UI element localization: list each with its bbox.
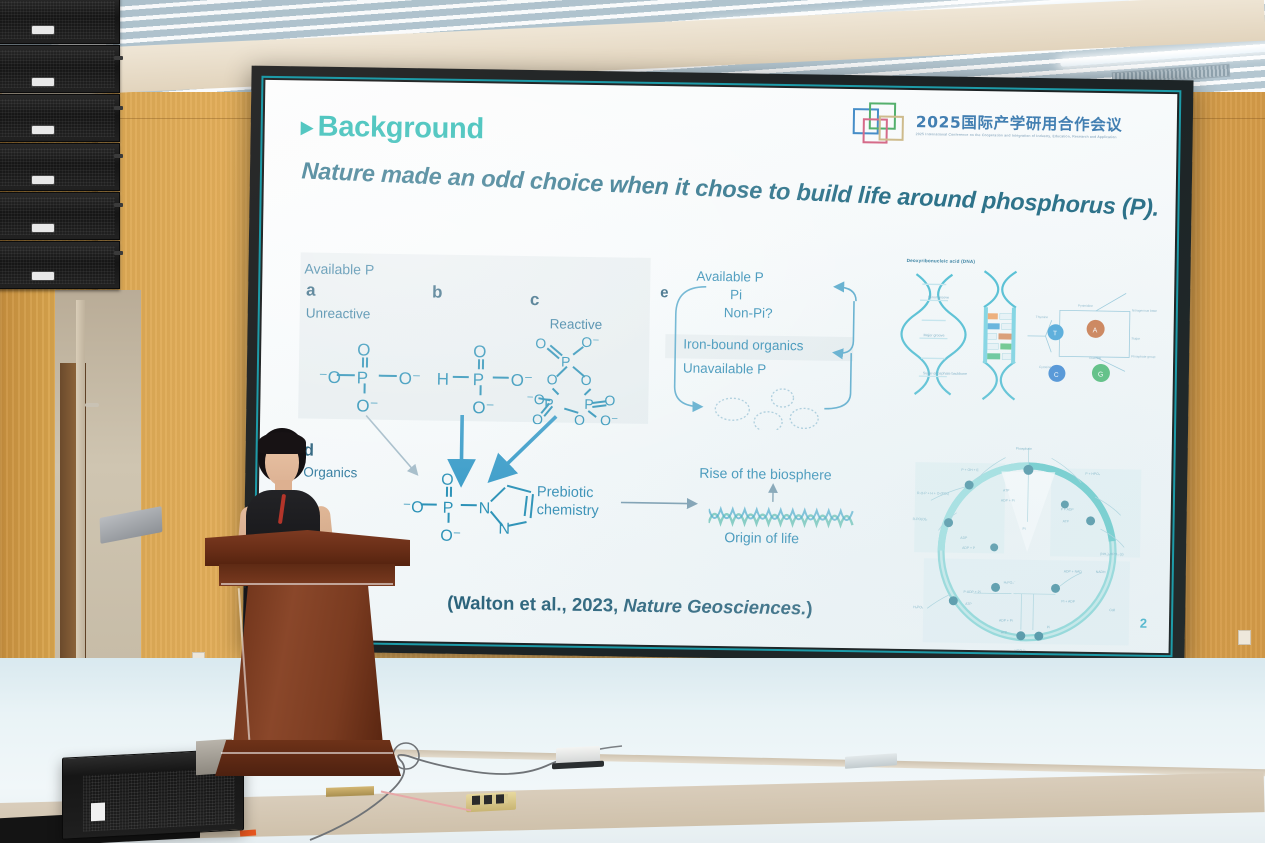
svg-text:N: N: [498, 521, 510, 538]
svg-text:ADP + Pi: ADP + Pi: [999, 618, 1013, 622]
svg-text:P: P: [473, 370, 485, 389]
svg-text:Thymine: Thymine: [1036, 315, 1049, 319]
rigging-bracket: [114, 251, 123, 255]
svg-text:O: O: [547, 371, 558, 387]
svg-text:⁻O: ⁻O: [526, 391, 545, 407]
svg-text:ATP: ATP: [1063, 519, 1070, 523]
svg-text:H₂PO₄⁻: H₂PO₄⁻: [1004, 581, 1016, 585]
line-array-loudspeaker: [0, 0, 122, 296]
line-array-box: [0, 192, 120, 240]
svg-text:ATP: ATP: [1003, 488, 1010, 492]
svg-text:Phosphate: Phosphate: [1016, 447, 1032, 451]
floor-power-strip-sockets: [472, 794, 508, 805]
slide-citation: (Walton et al., 2023, Nature Geosciences…: [447, 592, 813, 620]
line-array-box: [0, 143, 120, 191]
trimetaphosphate-structure-c: OO⁻ P OO ⁻O P P O O O O⁻: [518, 332, 647, 426]
biosphere-arrow: [767, 482, 779, 504]
citation-prefix: (Walton et al., 2023,: [447, 592, 623, 616]
lectern-base: [215, 740, 401, 776]
slide-heading-text: Background: [317, 111, 484, 147]
lectern-stripe-upper: [221, 583, 393, 585]
dna-base-G: G: [1098, 371, 1104, 378]
line-array-badge: [32, 78, 54, 86]
svg-text:Pi + ADP: Pi + ADP: [1061, 599, 1075, 603]
dna-strand-graphic: [708, 503, 860, 531]
available-p-label-left: Available P: [304, 260, 374, 277]
panel-a-caption: Unreactive: [306, 306, 371, 322]
e-cycle-arrows: [664, 278, 866, 431]
slide-number: 2: [1140, 616, 1147, 631]
logo-squares-icon: [852, 102, 909, 147]
floor-tape-marker-3: [240, 829, 256, 836]
floor-brass-plate: [326, 786, 374, 797]
svg-text:P: P: [357, 368, 369, 387]
svg-text:H₂PO₄: H₂PO₄: [913, 605, 924, 609]
svg-text:O: O: [535, 335, 546, 351]
prebiotic-arrow: [621, 493, 707, 512]
slide-title: Nature made an odd choice when it chose …: [301, 156, 1177, 223]
line-array-badge: [32, 224, 54, 232]
svg-text:O⁻: O⁻: [440, 528, 461, 545]
svg-text:R-O-P + H + O-(PO₃): R-O-P + H + O-(PO₃): [917, 491, 949, 496]
panel-c-letter: c: [530, 290, 540, 310]
lectern-top: [205, 530, 410, 566]
rigging-bracket: [114, 203, 123, 207]
line-array-box: [0, 94, 120, 142]
svg-text:Pi: Pi: [1047, 625, 1050, 629]
svg-text:Major groove: Major groove: [923, 333, 944, 337]
svg-text:R-PO(O)₂: R-PO(O)₂: [913, 517, 928, 521]
svg-text:O: O: [473, 342, 487, 361]
bullet-arrow-icon: [301, 121, 314, 135]
svg-text:P: P: [561, 354, 571, 370]
prebiotic-chemistry-line2: chemistry: [537, 502, 599, 519]
wooden-lectern: [205, 530, 410, 780]
svg-text:ADP: ADP: [960, 536, 968, 540]
svg-text:P: P: [544, 395, 554, 411]
slide-heading: Background: [300, 110, 484, 146]
auditorium-scene: Background Nature made an odd choice whe…: [0, 0, 1265, 843]
svg-text:H: H: [437, 370, 450, 389]
panel-b-letter: b: [432, 283, 443, 303]
svg-text:Guanine: Guanine: [1089, 356, 1101, 360]
svg-text:P: P: [584, 396, 594, 412]
rigging-bracket: [114, 106, 123, 110]
svg-text:ADP + NAD: ADP + NAD: [1064, 569, 1083, 573]
line-array-badge: [32, 26, 54, 34]
rigging-bracket: [114, 154, 123, 158]
dna-base-C: C: [1054, 372, 1059, 379]
svg-text:Cell: Cell: [1109, 608, 1115, 612]
line-array-badge: [32, 126, 54, 134]
phosphorus-cycle-svg: Phosphate P + OH + E R-O-P + H + O-(PO₃)…: [902, 442, 1151, 653]
dna-base-T: T: [1053, 330, 1057, 337]
dna-figure-svg: Minor groove Major groove Sugar-phosphat…: [898, 258, 1158, 412]
svg-text:ATP: ATP: [1001, 630, 1008, 634]
svg-text:Pyrimidine: Pyrimidine: [1078, 304, 1093, 308]
svg-text:Sugar: Sugar: [1131, 336, 1141, 340]
svg-text:O⁻: O⁻: [581, 334, 600, 350]
conference-name-cn: 2025国际产学研用合作会议: [916, 114, 1123, 134]
svg-text:⁻O: ⁻O: [319, 368, 341, 387]
wall-outlet-right[interactable]: [1238, 630, 1251, 645]
svg-text:O: O: [357, 340, 371, 359]
svg-text:NADH: NADH: [1096, 570, 1106, 574]
svg-text:Cytosine: Cytosine: [1039, 365, 1052, 369]
line-array-box: [0, 45, 120, 93]
dna-figure-caption: Deoxyribonucleic acid (DNA): [907, 258, 976, 264]
rigging-bracket: [114, 56, 123, 60]
panel-a-letter: a: [306, 281, 316, 301]
citation-journal: Nature Geosciences.: [623, 595, 806, 619]
svg-text:O⁻: O⁻: [600, 412, 619, 426]
svg-text:HPO₄²⁻: HPO₄²⁻: [1015, 649, 1027, 653]
lectern-stripe-base: [221, 752, 393, 754]
line-array-badge: [32, 176, 54, 184]
svg-text:ADP + P: ADP + P: [962, 546, 976, 550]
svg-text:ADP + Pi: ADP + Pi: [1001, 498, 1015, 502]
line-array-box: [0, 0, 120, 44]
citation-suffix: ): [806, 597, 813, 618]
svg-text:P + HPO₄: P + HPO₄: [1085, 472, 1100, 476]
svg-text:Phosphate group: Phosphate group: [1131, 354, 1156, 358]
dna-base-A: A: [1093, 327, 1098, 334]
svg-text:Nitrogenous base: Nitrogenous base: [1132, 308, 1157, 312]
line-array-badge: [32, 272, 54, 280]
prebiotic-chemistry-line1: Prebiotic: [537, 484, 594, 501]
dna-figure: Deoxyribonucleic acid (DNA): [898, 258, 1158, 412]
svg-text:Minor groove: Minor groove: [928, 295, 949, 299]
svg-text:(NH₄)₂HPO₄ (s): (NH₄)₂HPO₄ (s): [1100, 552, 1124, 556]
rise-of-biosphere-label: Rise of the biosphere: [699, 465, 832, 483]
lectern-body: [233, 585, 383, 745]
phosphorus-cycle-figure: Phosphate P + OH + E R-O-P + H + O-(PO₃)…: [902, 442, 1151, 653]
svg-text:P + OH + E: P + OH + E: [961, 468, 979, 472]
presenter-hair-front: [258, 432, 306, 454]
svg-text:O: O: [604, 392, 615, 408]
door-handle-icon[interactable]: [85, 403, 99, 407]
svg-text:P-ADP + Pi: P-ADP + Pi: [963, 590, 980, 594]
svg-text:ATP: ATP: [965, 602, 972, 606]
line-array-box: [0, 241, 120, 289]
speaker-badge: [91, 803, 105, 822]
svg-text:Sugar-phosphate backbone: Sugar-phosphate backbone: [923, 371, 967, 376]
panel-c-caption: Reactive: [550, 316, 603, 332]
conference-logo: 2025国际产学研用合作会议 2025 International Confer…: [852, 99, 1153, 154]
svg-text:Pi: Pi: [1022, 527, 1025, 531]
origin-of-life-label: Origin of life: [724, 529, 799, 546]
svg-text:P + ADP: P + ADP: [1061, 507, 1075, 511]
svg-text:O: O: [581, 372, 592, 388]
conference-logo-text: 2025国际产学研用合作会议 2025 International Confer…: [916, 114, 1123, 140]
